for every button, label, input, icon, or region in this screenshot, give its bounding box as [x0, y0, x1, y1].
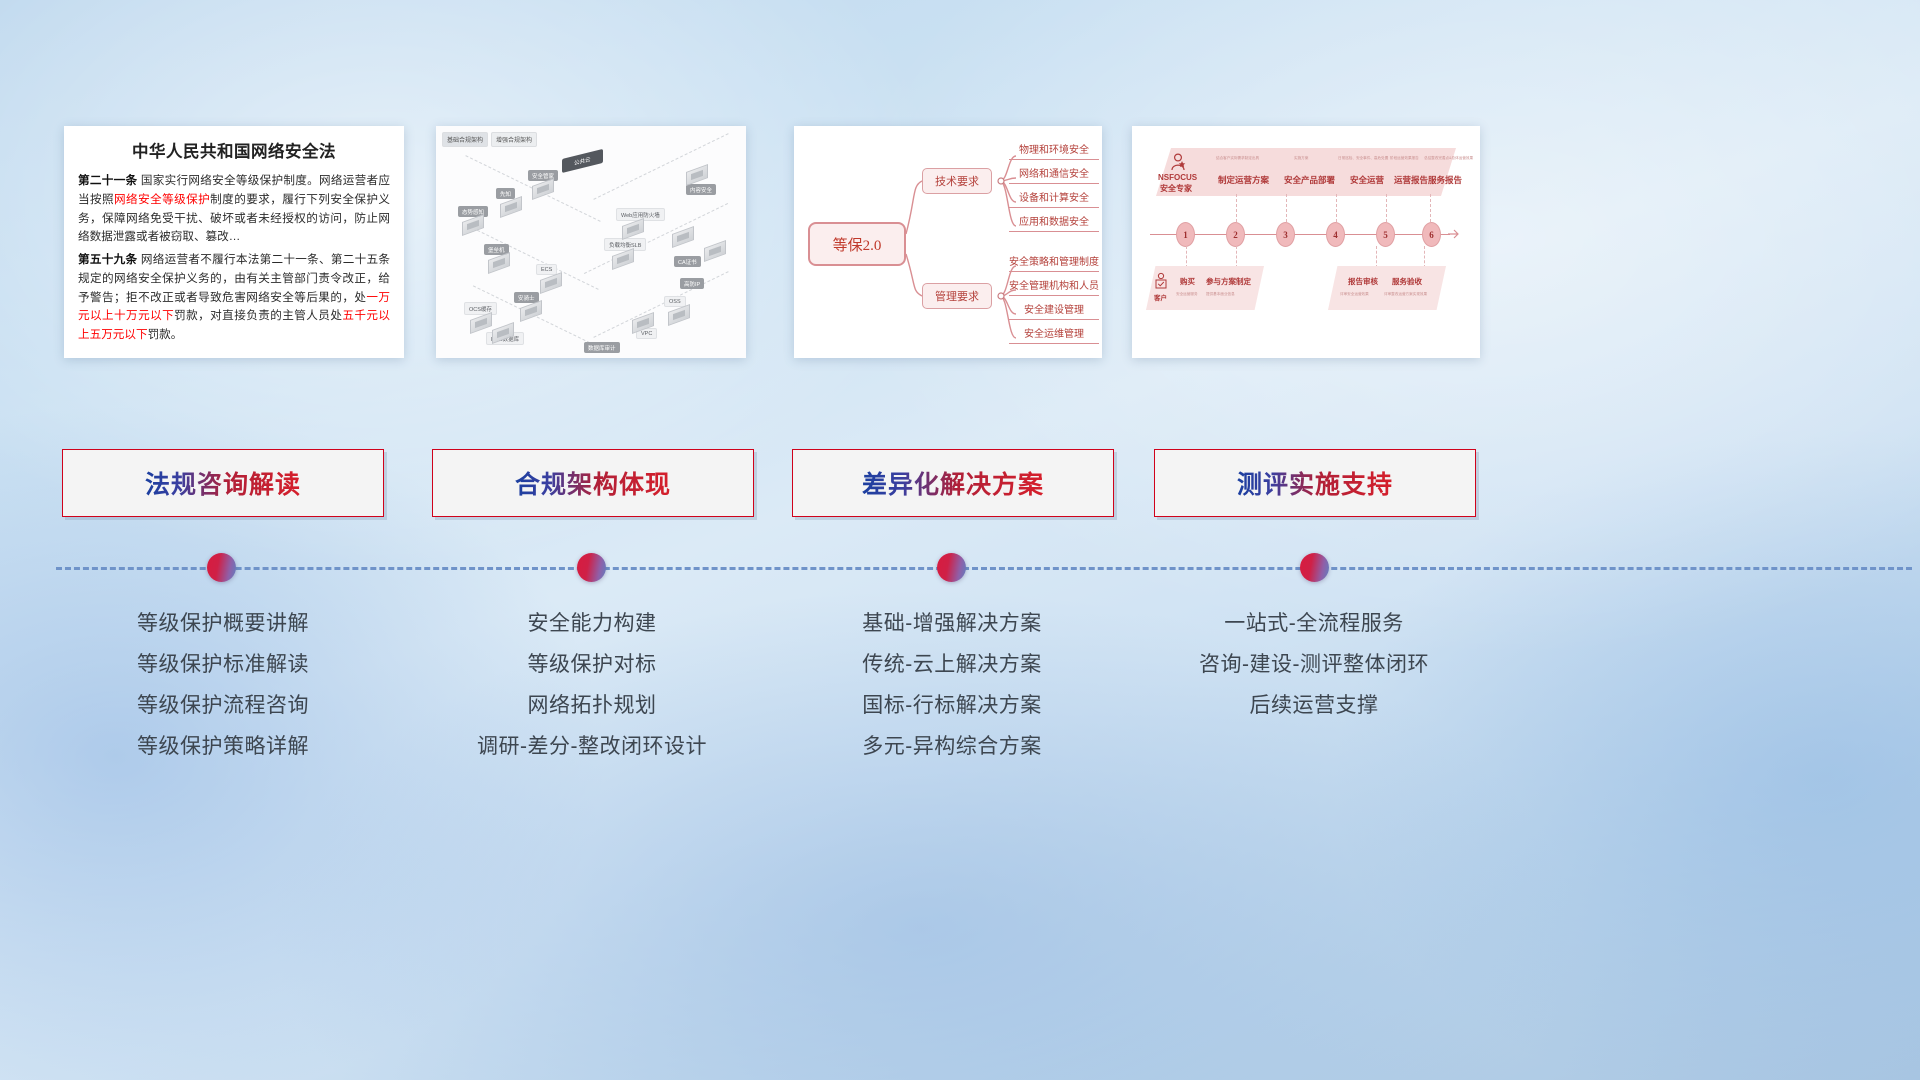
timeline-connector — [1236, 194, 1237, 222]
section-items-3: 基础-增强解决方案 传统-云上解决方案 国标-行标解决方案 多元-异构综合方案 — [766, 604, 1138, 768]
mindmap-leaf-org-personnel: 安全管理机构和人员 — [1009, 280, 1099, 296]
node-icon — [500, 196, 522, 218]
list-item: 网络拓扑规划 — [406, 686, 778, 727]
thumbnail-card-architecture[interactable]: 基础合规架构 增强合规架构 公共云 安全管家 先知 态势感知 堡垒机 ECS 安… — [436, 126, 746, 358]
list-item: 等级保护概要讲解 — [37, 604, 409, 645]
law-article-21: 第二十一条 国家实行网络安全等级保护制度。网络运营者应当按照网络安全等级保护制度… — [78, 172, 390, 247]
section-title-box-1[interactable]: 法规咨询解读 — [62, 449, 384, 517]
section-items-2: 安全能力构建 等级保护对标 网络拓扑规划 调研-差分-整改闭环设计 — [406, 604, 778, 768]
step-4-sub: 日常巡检、安全事件、高危处置 — [1338, 156, 1388, 161]
node-xianzhi: 先知 — [496, 188, 515, 199]
bottom-right-1-sub: 评审安全运营效果 — [1340, 292, 1369, 297]
section-title-box-4[interactable]: 测评实施支持 — [1154, 449, 1476, 517]
node-icon — [612, 248, 634, 270]
section-title-3: 差异化解决方案 — [862, 465, 1044, 501]
node-icon — [668, 304, 690, 326]
expert-person-icon — [1168, 152, 1188, 172]
bottom-right-2-sub: 评审整改运营方案实现效果 — [1384, 292, 1427, 297]
section-items-4: 一站式-全流程服务 咨询-建设-测评整体闭环 后续运营支撑 — [1128, 604, 1500, 727]
timeline-step-5[interactable]: 5 — [1376, 222, 1395, 247]
node-icon — [686, 164, 708, 186]
step-3-title: 安全产品部署 — [1284, 174, 1335, 186]
timeline-connector — [1336, 194, 1337, 222]
section-title-4: 测评实施支持 — [1237, 465, 1393, 501]
customer-person-icon — [1154, 272, 1168, 290]
law-document: 中华人民共和国网络安全法 第二十一条 国家实行网络安全等级保护制度。网络运营者应… — [64, 126, 404, 357]
section-title-2: 合规架构体现 — [515, 465, 671, 501]
article-59-mid: 罚款，对直接负责的主管人员处 — [174, 309, 342, 322]
law-article-59: 第五十九条 网络运营者不履行本法第二十一条、第二十五条规定的网络安全保护义务的，… — [78, 251, 390, 345]
node-database-audit: 数据库审计 — [584, 342, 620, 353]
list-item: 传统-云上解决方案 — [766, 645, 1138, 686]
timeline-connector — [1186, 246, 1187, 268]
architecture-tabs: 基础合规架构 增强合规架构 — [442, 132, 537, 147]
step-6-title: 服务报告 — [1428, 174, 1462, 186]
step-5-sub: 阶段运营效果报告 — [1390, 156, 1419, 161]
list-item: 基础-增强解决方案 — [766, 604, 1138, 645]
list-item: 国标-行标解决方案 — [766, 686, 1138, 727]
list-item: 等级保护策略详解 — [37, 727, 409, 768]
mindmap-branch-management: 管理要求 — [922, 283, 992, 309]
node-slb: 负载均衡SLB — [604, 238, 646, 251]
thumbnail-card-timeline[interactable]: NSFOCUS 安全专家 结合客户实际需求制定出具 制定运营方案 实施方案 安全… — [1132, 126, 1480, 358]
bottom-left-1-sub: 安全运营服务 — [1176, 292, 1198, 297]
mindmap-leaf-physical-env: 物理和环境安全 — [1009, 144, 1099, 160]
timeline-step-3[interactable]: 3 — [1276, 222, 1295, 247]
step-3-sub: 实施方案 — [1294, 156, 1308, 161]
brand-subtitle: 安全专家 — [1160, 183, 1192, 194]
node-icon — [470, 312, 492, 334]
timeline-connector — [1236, 246, 1237, 268]
thumbnail-card-law[interactable]: 中华人民共和国网络安全法 第二十一条 国家实行网络安全等级保护制度。网络运营者应… — [64, 126, 404, 358]
node-icon — [704, 240, 726, 262]
mindmap-leaf-construction-mgmt: 安全建设管理 — [1009, 304, 1099, 320]
plane-edge — [463, 223, 598, 290]
list-item: 咨询-建设-测评整体闭环 — [1128, 645, 1500, 686]
timeline-step-1[interactable]: 1 — [1176, 222, 1195, 247]
step-2-sub: 结合客户实际需求制定出具 — [1216, 156, 1259, 161]
timeline-connector — [1424, 246, 1425, 268]
mindmap-leaf-policy-system: 安全策略和管理制度 — [1009, 256, 1099, 272]
timeline-connector — [1386, 194, 1387, 222]
bottom-left-2-sub: 提供基本面业信息 — [1206, 292, 1235, 297]
mindmap-leaf-ops-mgmt: 安全运维管理 — [1009, 328, 1099, 344]
list-item: 等级保护流程咨询 — [37, 686, 409, 727]
section-items-1: 等级保护概要讲解 等级保护标准解读 等级保护流程咨询 等级保护策略详解 — [37, 604, 409, 768]
bottom-left-1-title: 购买 — [1180, 276, 1195, 287]
bottom-right-2-title: 服务验收 — [1392, 276, 1422, 287]
brand-name: NSFOCUS — [1158, 173, 1197, 182]
timeline-node-1[interactable] — [207, 553, 236, 582]
tab-enhanced-compliance[interactable]: 增强合规架构 — [491, 132, 537, 147]
timeline-bottom-band-right — [1328, 266, 1446, 310]
step-4-title: 安全运营 — [1350, 174, 1384, 186]
timeline-node-4[interactable] — [1300, 553, 1329, 582]
list-item: 后续运营支撑 — [1128, 686, 1500, 727]
node-anti-ddos-ip: 高防IP — [680, 278, 704, 289]
timeline-connector — [1376, 246, 1377, 268]
mindmap-branch-technical: 技术要求 — [922, 168, 992, 194]
list-item: 安全能力构建 — [406, 604, 778, 645]
step-5-title: 运营报告 — [1394, 174, 1428, 186]
mindmap-leaf-network-comm: 网络和通信安全 — [1009, 168, 1099, 184]
timeline-connector — [1430, 194, 1431, 222]
axis-arrow-icon — [1448, 228, 1462, 242]
timeline-step-4[interactable]: 4 — [1326, 222, 1345, 247]
list-item: 多元-异构综合方案 — [766, 727, 1138, 768]
timeline-node-2[interactable] — [577, 553, 606, 582]
node-ecs: ECS — [536, 264, 557, 275]
mindmap-diagram: 等保2.0 技术要求 物理和环境安全 网络和通信安全 设备和计算安全 应用和数据… — [794, 126, 1102, 358]
article-21-highlight: 网络安全等级保护 — [114, 193, 210, 206]
article-21-label: 第二十一条 — [78, 174, 137, 187]
thumbnail-card-mindmap[interactable]: 等保2.0 技术要求 物理和环境安全 网络和通信安全 设备和计算安全 应用和数据… — [794, 126, 1102, 358]
mindmap-root: 等保2.0 — [808, 222, 906, 266]
plane-edge — [593, 271, 728, 338]
bottom-left-2-title: 参与方案制定 — [1206, 276, 1251, 287]
timeline-dashed-line — [56, 567, 1912, 570]
timeline-step-6[interactable]: 6 — [1422, 222, 1441, 247]
article-59-label: 第五十九条 — [78, 253, 137, 266]
timeline-axis — [1150, 234, 1450, 235]
section-title-1: 法规咨询解读 — [145, 465, 301, 501]
mindmap-leaf-app-data: 应用和数据安全 — [1009, 216, 1099, 232]
node-oss: OSS — [664, 296, 686, 307]
node-icon — [488, 252, 510, 274]
list-item: 一站式-全流程服务 — [1128, 604, 1500, 645]
node-public-cloud: 公共云 — [562, 149, 603, 173]
section-title-box-3[interactable]: 差异化解决方案 — [792, 449, 1114, 517]
tab-basic-compliance[interactable]: 基础合规架构 — [442, 132, 488, 147]
bottom-right-1-title: 报告审核 — [1348, 276, 1378, 287]
slide-canvas: 中华人民共和国网络安全法 第二十一条 国家实行网络安全等级保护制度。网络运营者应… — [0, 0, 1920, 1080]
section-title-box-2[interactable]: 合规架构体现 — [432, 449, 754, 517]
list-item: 等级保护标准解读 — [37, 645, 409, 686]
customer-label: 客户 — [1154, 292, 1167, 302]
step-2-title: 制定运营方案 — [1218, 174, 1269, 186]
article-59-post: 罚款。 — [148, 328, 183, 341]
service-timeline-diagram: NSFOCUS 安全专家 结合客户实际需求制定出具 制定运营方案 实施方案 安全… — [1132, 126, 1480, 358]
step-6-sub: 总结整改完善点&总体运营效果 — [1424, 156, 1473, 161]
node-content-security: 内容安全 — [686, 184, 716, 195]
node-ca-certificate: CA证书 — [674, 256, 701, 267]
architecture-diagram: 基础合规架构 增强合规架构 公共云 安全管家 先知 态势感知 堡垒机 ECS 安… — [436, 126, 746, 358]
timeline-connector — [1286, 194, 1287, 222]
timeline-node-3[interactable] — [937, 553, 966, 582]
mindmap-leaf-device-compute: 设备和计算安全 — [1009, 192, 1099, 208]
timeline-step-2[interactable]: 2 — [1226, 222, 1245, 247]
node-icon — [540, 272, 562, 294]
list-item: 等级保护对标 — [406, 645, 778, 686]
list-item: 调研-差分-整改闭环设计 — [406, 727, 778, 768]
node-icon — [622, 218, 644, 240]
law-title: 中华人民共和国网络安全法 — [78, 138, 390, 162]
